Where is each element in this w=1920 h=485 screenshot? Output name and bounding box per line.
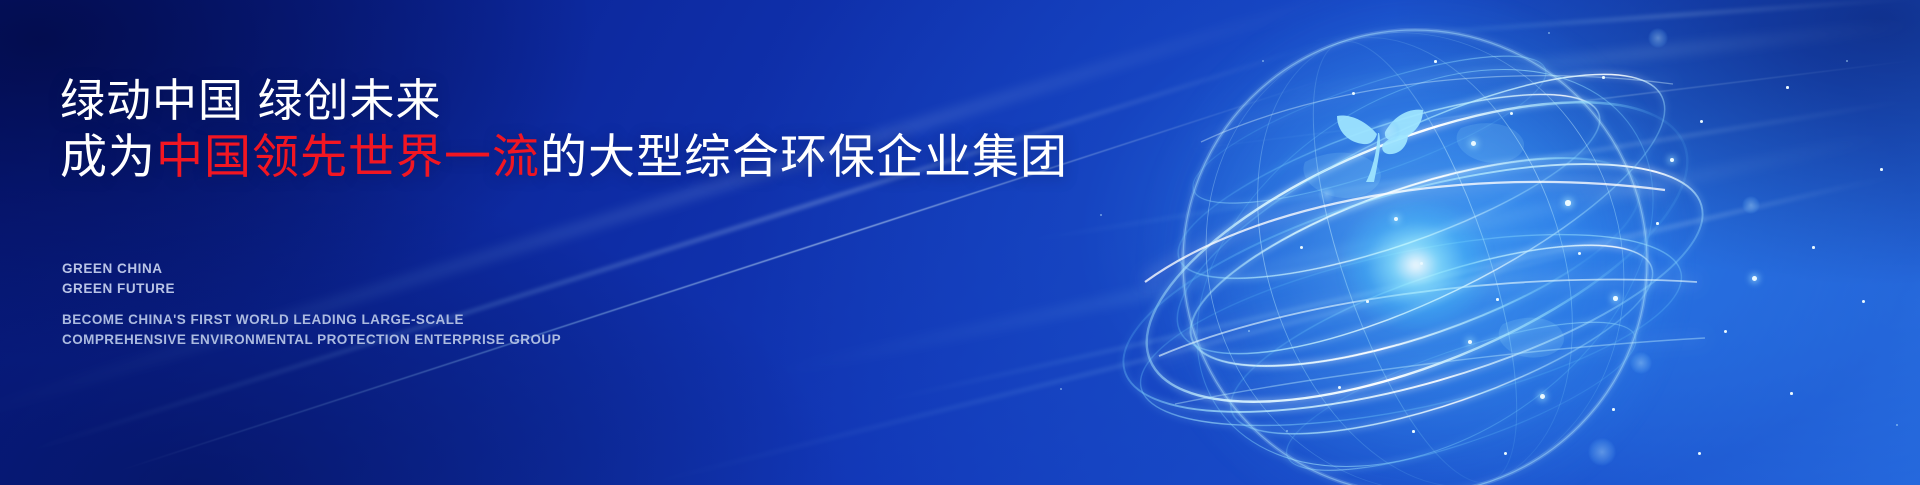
description-line-2: COMPREHENSIVE ENVIRONMENTAL PROTECTION E… bbox=[62, 330, 561, 350]
headline-line-1: 绿动中国 绿创未来 bbox=[60, 78, 442, 123]
headline-line-2-highlight: 中国领先世界一流 bbox=[156, 130, 540, 183]
tagline-line-2: GREEN FUTURE bbox=[62, 279, 175, 299]
tagline-english: GREEN CHINA GREEN FUTURE bbox=[62, 259, 175, 298]
headline-line-2: 成为中国领先世界一流的大型综合环保企业集团 bbox=[60, 133, 1068, 180]
tagline-line-1: GREEN CHINA bbox=[62, 259, 175, 279]
headline-line-2-suffix: 的大型综合环保企业集团 bbox=[540, 130, 1068, 183]
hero-banner: 绿动中国 绿创未来 成为中国领先世界一流的大型综合环保企业集团 GREEN CH… bbox=[0, 0, 1920, 485]
description-line-1: BECOME CHINA'S FIRST WORLD LEADING LARGE… bbox=[62, 310, 561, 330]
headline-line-2-prefix: 成为 bbox=[60, 130, 156, 183]
copy-block: 绿动中国 绿创未来 成为中国领先世界一流的大型综合环保企业集团 GREEN CH… bbox=[0, 0, 1100, 485]
description-english: BECOME CHINA'S FIRST WORLD LEADING LARGE… bbox=[62, 310, 561, 349]
